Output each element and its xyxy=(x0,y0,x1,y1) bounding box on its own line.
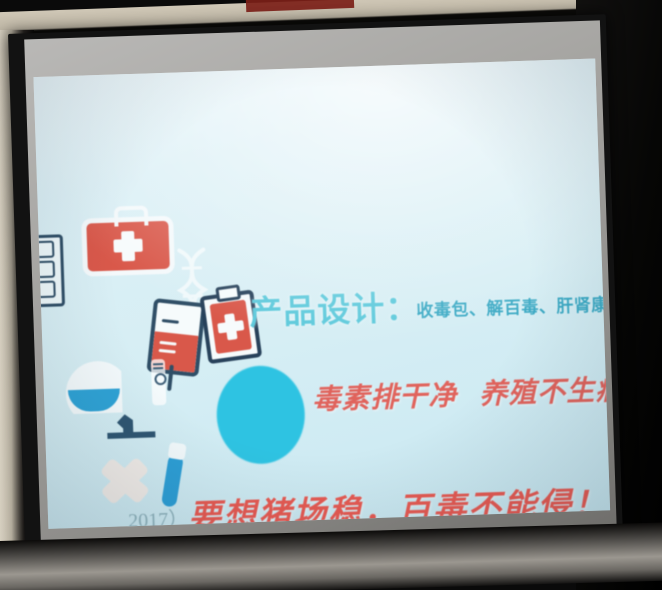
dropper-bulb xyxy=(154,373,166,385)
presentation-slide: 产品设计： 收毒包、解百毒、肝肾康 毒素排干净养殖不生病 2017） 要想猪场稳… xyxy=(33,59,610,529)
first-aid-kit-icon xyxy=(86,221,170,272)
test-tube-icon xyxy=(161,454,184,508)
projector-photo: 产品设计： 收毒包、解百毒、肝肾康 毒素排干净养殖不生病 2017） 要想猪场稳… xyxy=(0,0,662,590)
dropper-marks xyxy=(153,363,163,365)
slogan-left: 毒素排干净 xyxy=(312,379,458,415)
microscope-svg xyxy=(103,411,162,443)
slide-title: 产品设计： xyxy=(249,291,420,330)
slide-subtitle: 收毒包、解百毒、肝肾康 xyxy=(416,296,609,319)
cross-glyph xyxy=(121,231,135,261)
bandage-cross-icon xyxy=(98,454,152,508)
slogan-right: 养殖不生病 xyxy=(479,374,610,410)
clipboard-sheet xyxy=(210,300,253,354)
dropper-icon xyxy=(151,359,167,405)
slide-slogan: 毒素排干净养殖不生病 xyxy=(312,376,610,414)
bag-label-line xyxy=(162,319,179,324)
microscope-icon xyxy=(103,411,162,443)
flask-icon xyxy=(65,360,123,414)
cross-glyph xyxy=(224,313,237,340)
accent-circle xyxy=(215,364,306,465)
projection-screen-frame: 产品设计： 收毒包、解百毒、肝肾康 毒素排干净养殖不生病 2017） 要想猪场稳… xyxy=(8,14,623,558)
projection-screen-canvas: 产品设计： 收毒包、解百毒、肝肾康 毒素排干净养殖不生病 2017） 要想猪场稳… xyxy=(33,59,610,529)
